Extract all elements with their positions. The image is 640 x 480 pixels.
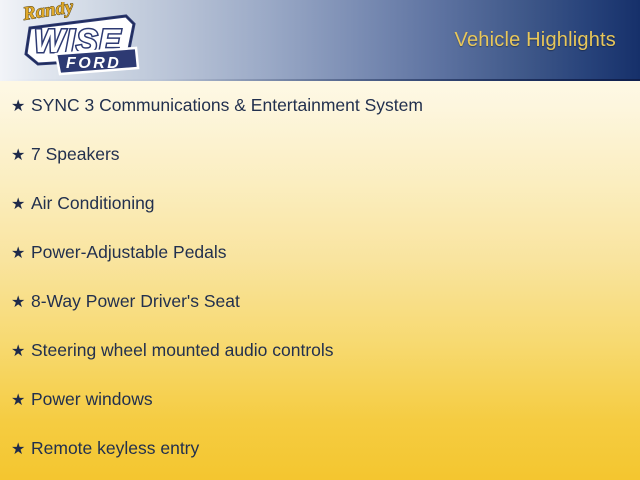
star-icon: ★ [11, 392, 31, 410]
list-item: ★ Power-Adjustable Pedals [0, 242, 640, 291]
list-item-label: Remote keyless entry [31, 438, 640, 458]
list-item-label: Air Conditioning [31, 193, 640, 213]
logo-word-ford: FORD [66, 55, 121, 72]
list-item: ★ Remote keyless entry [0, 438, 640, 480]
vehicle-highlights-slide: WISE Randy FORD Vehicle Highlights ★ SYN… [0, 0, 640, 480]
star-icon: ★ [11, 441, 31, 459]
star-icon: ★ [11, 98, 31, 116]
logo-word-randy: Randy [21, 2, 76, 25]
list-item-label: SYNC 3 Communications & Entertainment Sy… [31, 95, 640, 115]
list-item: ★ 8-Way Power Driver's Seat [0, 291, 640, 340]
list-item: ★ SYNC 3 Communications & Entertainment … [0, 95, 640, 144]
list-item-label: Power-Adjustable Pedals [31, 242, 640, 262]
vehicle-highlights-list: ★ SYNC 3 Communications & Entertainment … [0, 81, 640, 480]
list-item: ★ Steering wheel mounted audio controls [0, 340, 640, 389]
list-item-label: Power windows [31, 389, 640, 409]
list-item: ★ Power windows [0, 389, 640, 438]
star-icon: ★ [11, 294, 31, 312]
list-item-label: Steering wheel mounted audio controls [31, 340, 640, 360]
star-icon: ★ [11, 343, 31, 361]
star-icon: ★ [11, 245, 31, 263]
logo-ford-banner: FORD [56, 48, 138, 74]
star-icon: ★ [11, 147, 31, 165]
list-item-label: 7 Speakers [31, 144, 640, 164]
list-item: ★ 7 Speakers [0, 144, 640, 193]
list-item-label: 8-Way Power Driver's Seat [31, 291, 640, 311]
page-title: Vehicle Highlights [455, 29, 616, 51]
randy-wise-ford-logo: WISE Randy FORD [8, 2, 140, 80]
list-item: ★ Air Conditioning [0, 193, 640, 242]
header-band: WISE Randy FORD Vehicle Highlights [0, 0, 640, 81]
star-icon: ★ [11, 196, 31, 214]
